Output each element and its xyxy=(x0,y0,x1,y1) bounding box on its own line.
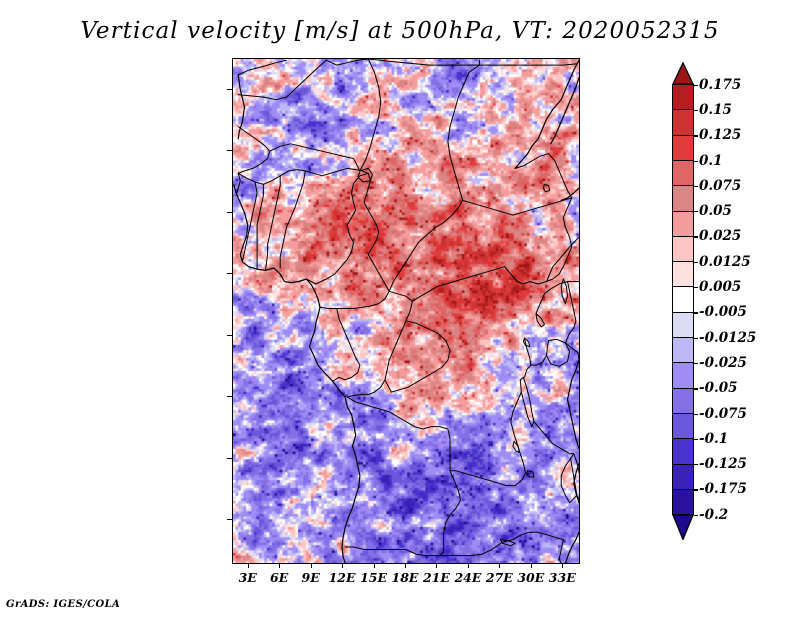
colorbar-tick-label: -0.075 xyxy=(699,406,747,422)
y-axis-tick-mark xyxy=(227,150,232,151)
x-axis-tick-mark xyxy=(499,563,500,568)
colorbar-tick-mark xyxy=(694,236,698,237)
colorbar-tick-label: -0.0125 xyxy=(699,330,756,346)
x-axis-tick-label: 15E xyxy=(360,570,387,585)
y-axis-tick-mark xyxy=(227,212,232,213)
y-axis-tick-mark xyxy=(227,396,232,397)
colorbar-tick-label: -0.2 xyxy=(699,507,728,523)
colorbar-tick-label: 0.175 xyxy=(699,77,741,93)
grads-attribution: GrADS: IGES/COLA xyxy=(6,599,120,610)
colorbar-segment xyxy=(672,362,694,389)
map-plot-area xyxy=(232,58,580,564)
colorbar-segment xyxy=(672,438,694,465)
colorbar-tick-mark xyxy=(694,363,698,364)
colorbar-tick-mark xyxy=(694,287,698,288)
colorbar-segment xyxy=(672,388,694,415)
x-axis-tick-label: 30E xyxy=(517,570,544,585)
colorbar-segment xyxy=(672,211,694,238)
colorbar-tick-mark xyxy=(694,211,698,212)
x-axis-tick-mark xyxy=(279,563,280,568)
colorbar-segment xyxy=(672,413,694,440)
colorbar-segment xyxy=(672,261,694,288)
colorbar-tick-mark xyxy=(694,135,698,136)
y-axis-tick-mark xyxy=(227,273,232,274)
x-axis-tick-mark xyxy=(405,563,406,568)
map-plot-inner xyxy=(233,59,579,563)
x-axis-tick-mark xyxy=(562,563,563,568)
colorbar-segment xyxy=(672,84,694,111)
colorbar-tick-label: 0.125 xyxy=(699,127,741,143)
colorbar-tick-label: 0.15 xyxy=(699,102,732,118)
colorbar-segment xyxy=(672,109,694,136)
x-axis-tick-label: 21E xyxy=(423,570,450,585)
x-axis-tick-label: 27E xyxy=(486,570,513,585)
colorbar-tick-mark xyxy=(694,312,698,313)
colorbar-min-arrow xyxy=(672,514,694,540)
colorbar-tick-label: -0.025 xyxy=(699,355,747,371)
vertical-velocity-field xyxy=(233,59,579,563)
x-axis-tick-mark xyxy=(468,563,469,568)
x-axis-tick-mark xyxy=(342,563,343,568)
colorbar-tick-label: 0.0125 xyxy=(699,254,751,270)
colorbar-tick-mark xyxy=(694,515,698,516)
colorbar-tick-label: -0.005 xyxy=(699,304,747,320)
y-axis-tick-mark xyxy=(227,458,232,459)
colorbar-segment xyxy=(672,489,694,516)
colorbar-tick-mark xyxy=(694,464,698,465)
colorbar-segment xyxy=(672,464,694,491)
colorbar-tick-label: -0.1 xyxy=(699,431,728,447)
colorbar-max-arrow xyxy=(672,62,694,84)
colorbar-tick-label: 0.025 xyxy=(699,228,741,244)
y-axis-tick-mark xyxy=(227,519,232,520)
colorbar-segment xyxy=(672,185,694,212)
colorbar-segment xyxy=(672,236,694,263)
colorbar-tick-mark xyxy=(694,338,698,339)
page-title: Vertical velocity [m/s] at 500hPa, VT: 2… xyxy=(0,18,800,44)
x-axis-tick-mark xyxy=(311,563,312,568)
x-axis-tick-label: 18E xyxy=(392,570,419,585)
colorbar-segment xyxy=(672,337,694,364)
x-axis-tick-mark xyxy=(248,563,249,568)
colorbar-tick-label: 0.075 xyxy=(699,178,741,194)
colorbar-tick-mark xyxy=(694,388,698,389)
colorbar-tick-mark xyxy=(694,161,698,162)
x-axis-tick-label: 33E xyxy=(549,570,576,585)
colorbar-tick-label: 0.05 xyxy=(699,203,732,219)
x-axis-tick-mark xyxy=(531,563,532,568)
colorbar-tick-mark xyxy=(694,186,698,187)
colorbar-segment xyxy=(672,286,694,313)
colorbar-segment xyxy=(672,135,694,162)
colorbar-tick-label: -0.175 xyxy=(699,481,747,497)
x-axis-tick-label: 3E xyxy=(239,570,257,585)
x-axis-tick-mark xyxy=(436,563,437,568)
y-axis-tick-mark xyxy=(227,335,232,336)
y-axis-tick-mark xyxy=(227,89,232,90)
x-axis-tick-label: 24E xyxy=(454,570,481,585)
x-axis-tick-label: 6E xyxy=(270,570,288,585)
colorbar-tick-label: 0.005 xyxy=(699,279,741,295)
colorbar-tick-mark xyxy=(694,489,698,490)
x-axis-tick-label: 9E xyxy=(302,570,320,585)
x-axis-tick-mark xyxy=(374,563,375,568)
colorbar-tick-mark xyxy=(694,110,698,111)
colorbar-tick-label: 0.1 xyxy=(699,153,723,169)
colorbar-tick-mark xyxy=(694,262,698,263)
colorbar-tick-mark xyxy=(694,85,698,86)
colorbar-tick-label: -0.05 xyxy=(699,380,737,396)
colorbar: 0.1750.150.1250.10.0750.050.0250.01250.0… xyxy=(670,62,800,557)
colorbar-tick-mark xyxy=(694,439,698,440)
colorbar-tick-label: -0.125 xyxy=(699,456,747,472)
colorbar-tick-mark xyxy=(694,414,698,415)
colorbar-segment xyxy=(672,312,694,339)
colorbar-segment xyxy=(672,160,694,187)
x-axis-tick-label: 12E xyxy=(329,570,356,585)
